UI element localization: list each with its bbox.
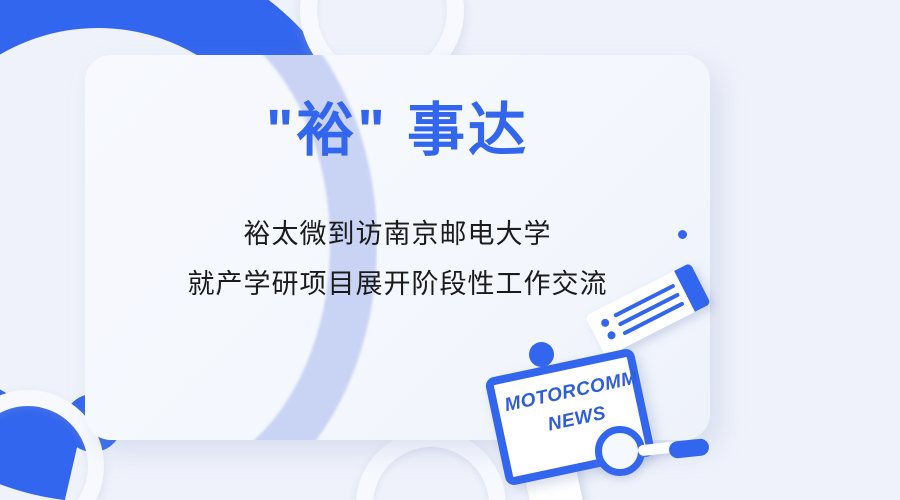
- note-bullet-icon: [600, 317, 611, 328]
- accent-dot-icon: [678, 230, 687, 239]
- megaphone-handle-cap: [668, 438, 710, 459]
- soft-ring-bottom-icon: [356, 430, 506, 500]
- megaphone-icon: MOTORCOMM NEWS: [492, 340, 722, 500]
- subtitle-line-1: 裕太微到访南京邮电大学: [85, 210, 710, 260]
- subtitle-block: 裕太微到访南京邮电大学 就产学研项目展开阶段性工作交流: [85, 210, 710, 310]
- news-banner: "裕" 事达 裕太微到访南京邮电大学 就产学研项目展开阶段性工作交流 MOTOR…: [0, 0, 900, 500]
- megaphone-accent-dot-icon: [529, 342, 554, 367]
- page-title: "裕" 事达: [85, 99, 710, 163]
- blue-top-dot: [226, 6, 278, 58]
